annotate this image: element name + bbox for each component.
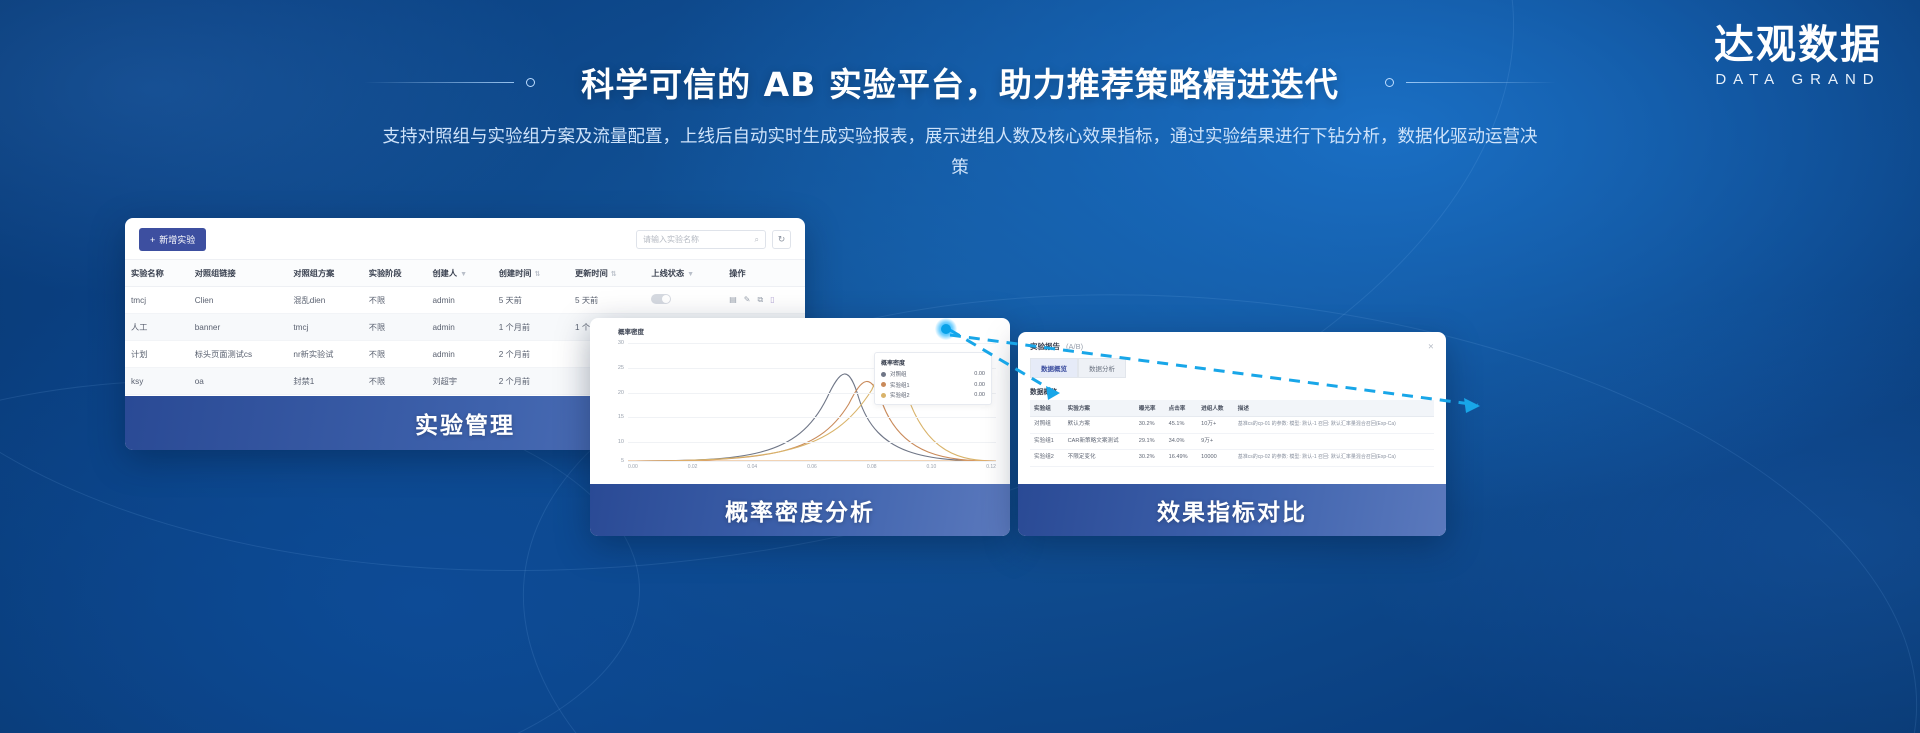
title-rule-right [1406,82,1556,83]
density-chart: 302520 15105 0.000.020.040.06 [600,338,1000,478]
online-toggle[interactable] [651,294,671,304]
cell-users: 10万+ [1197,417,1234,434]
title-dot-left-icon [526,78,535,87]
table-row[interactable]: tmcj Clien 混乱dien 不限 admin 5 天前 5 天前 ▤ ✎ [125,287,805,314]
cell-creator: admin [426,287,492,314]
cell-created: 5 天前 [493,287,569,314]
search-icon: ⌕ [755,235,759,245]
copy-icon[interactable]: ⧉ [758,295,764,305]
cell-created: 2 个月前 [493,368,569,395]
cell-link: 标头页面测试cs [189,341,288,368]
col-exposure: 曝光率 [1135,400,1165,417]
density-x-axis: 0.000.020.040.06 0.080.100.12 [628,464,996,478]
col-updated-label: 更新时间 [575,269,608,278]
cell-stage: 不限 [363,368,427,395]
col-plan[interactable]: 对照组方案 [287,260,362,287]
sort-icon-2[interactable]: ⇅ [611,271,617,278]
report-title: 实验报告 [1030,341,1060,352]
metric-table-header-row: 实验组 实验方案 曝光率 点击率 进组人数 描述 [1030,400,1434,417]
cell-plan: CAR新策略文案测试 [1064,433,1135,450]
density-legend: 概率密度 对照组 0.00 实验组1 0.00 实验组2 0.00 [874,352,992,405]
table-row[interactable]: 实验组2 不限定变化 30.2% 16.49% 10000 基准cs的cp-02… [1030,450,1434,467]
search-placeholder: 请输入实验名称 [643,234,699,245]
cell-updated: 5 天前 [569,287,645,314]
legend-label: 对照组 [890,370,970,378]
col-online-label: 上线状态 [651,269,684,278]
cell-link: Clien [189,287,288,314]
legend-swatch-icon [881,393,886,398]
cell-desc [1234,433,1434,450]
edit-icon[interactable]: ✎ [744,295,751,305]
col-actions: 操作 [723,260,805,287]
cell-name: tmcj [125,287,189,314]
cell-name: ksy [125,368,189,395]
legend-label: 实验组1 [890,381,970,389]
brand-logo: 达观数据 DATA GRAND [1714,24,1882,88]
caption-density-analysis: 概率密度分析 [590,484,1010,536]
refresh-button[interactable]: ↻ [772,230,791,249]
cell-online [645,287,723,314]
col-users: 进组人数 [1197,400,1234,417]
legend-item: 对照组 0.00 [881,370,985,378]
col-created-label: 创建时间 [499,269,532,278]
caption-metric-comparison: 效果指标对比 [1018,484,1446,536]
cell-link: banner [189,314,288,341]
hotspot-marker [935,318,957,340]
metric-table: 实验组 实验方案 曝光率 点击率 进组人数 描述 对照组 默认方案 30.2% … [1030,400,1434,467]
col-group: 实验组 [1030,400,1064,417]
col-creator[interactable]: 创建人▼ [426,260,492,287]
cell-ctr: 45.1% [1165,417,1198,434]
cell-name: 计划 [125,341,189,368]
cell-group: 实验组1 [1030,433,1064,450]
cell-plan: nr新实验试 [287,341,362,368]
cell-link: oa [189,368,288,395]
refresh-icon: ↻ [778,234,786,245]
title-rule-left [364,82,514,83]
tab-overview[interactable]: 数据概览 [1030,358,1078,378]
page-title: 科学可信的 AB 实验平台，助力推荐策略精进迭代 [547,58,1373,106]
delete-icon[interactable]: ▯ [770,295,774,305]
metric-table-body: 对照组 默认方案 30.2% 45.1% 10万+ 基准cs的cp-01 的参数… [1030,417,1434,467]
legend-swatch-icon [881,382,886,387]
col-stage[interactable]: 实验阶段 [363,260,427,287]
title-dot-right-icon [1385,78,1394,87]
cell-users: 9万+ [1197,433,1234,450]
cell-stage: 不限 [363,314,427,341]
filter-icon-2[interactable]: ▼ [687,271,694,278]
legend-title: 概率密度 [881,358,985,367]
col-updated[interactable]: 更新时间⇅ [569,260,645,287]
sort-icon[interactable]: ⇅ [534,271,540,278]
header: 科学可信的 AB 实验平台，助力推荐策略精进迭代 支持对照组与实验组方案及流量配… [0,58,1920,183]
legend-value: 0.00 [974,382,985,388]
cell-ctr: 16.49% [1165,450,1198,467]
new-experiment-label: 新增实验 [159,233,195,246]
cell-desc: 基准cs的cp-02 的参数: 模型: 默认-1 召回: 默认汇率量混合召回(E… [1234,450,1434,467]
close-icon[interactable]: ✕ [1428,342,1434,351]
cell-created: 2 个月前 [493,341,569,368]
col-name[interactable]: 实验名称 [125,260,189,287]
filter-icon[interactable]: ▼ [460,271,467,278]
cell-name: 人工 [125,314,189,341]
experiment-toolbar: + 新增实验 请输入实验名称 ⌕ ↻ [125,218,805,259]
legend-item: 实验组1 0.00 [881,381,985,389]
cell-creator: admin [426,341,492,368]
cell-exposure: 30.2% [1135,450,1165,467]
cell-plan: 不限定变化 [1064,450,1135,467]
cell-exposure: 30.2% [1135,417,1165,434]
new-experiment-button[interactable]: + 新增实验 [139,228,206,251]
metric-table-head: 实验组 实验方案 曝光率 点击率 进组人数 描述 [1030,400,1434,417]
cell-plan: 默认方案 [1064,417,1135,434]
panel-density-analysis: 概率密度 302520 15105 [590,318,1010,536]
col-creator-label: 创建人 [432,269,457,278]
report-header: 实验报告 (A/B) ✕ [1018,332,1446,358]
cell-created: 1 个月前 [493,314,569,341]
report-subtitle: (A/B) [1066,342,1083,351]
cell-group: 对照组 [1030,417,1064,434]
col-plan: 实验方案 [1064,400,1135,417]
section-title: 数据概览 [1018,378,1446,400]
cell-plan: 混乱dien [287,287,362,314]
cell-exposure: 29.1% [1135,433,1165,450]
cell-plan: 封禁1 [287,368,362,395]
brand-logo-cn: 达观数据 [1714,24,1882,66]
plus-icon: + [150,235,155,245]
legend-item: 实验组2 0.00 [881,391,985,399]
cell-ctr: 34.0% [1165,433,1198,450]
col-created[interactable]: 创建时间⇅ [493,260,569,287]
report-tabs: 数据概览 数据分析 [1018,358,1446,378]
cell-creator: 刘超宇 [426,368,492,395]
toolbar-right: 请输入实验名称 ⌕ ↻ [636,230,791,249]
col-ctr: 点击率 [1165,400,1198,417]
cell-actions: ▤ ✎ ⧉ ▯ [723,287,805,314]
legend-value: 0.00 [974,392,985,398]
cell-users: 10000 [1197,450,1234,467]
cell-plan: tmcj [287,314,362,341]
cell-stage: 不限 [363,341,427,368]
experiment-table-header-row: 实验名称 对照组链接 对照组方案 实验阶段 创建人▼ 创建时间⇅ 更新时间⇅ [125,260,805,287]
panel-metric-comparison: 实验报告 (A/B) ✕ 数据概览 数据分析 数据概览 实验组 实验方案 曝光率… [1018,332,1446,536]
title-row: 科学可信的 AB 实验平台，助力推荐策略精进迭代 [364,58,1556,106]
legend-value: 0.00 [974,371,985,377]
table-row[interactable]: 实验组1 CAR新策略文案测试 29.1% 34.0% 9万+ [1030,433,1434,450]
legend-swatch-icon [881,372,886,377]
view-icon[interactable]: ▤ [729,295,737,305]
cell-creator: admin [426,314,492,341]
brand-logo-en: DATA GRAND [1714,71,1882,88]
cell-desc: 基准cs的cp-01 的参数: 模型: 默认-1 召回: 默认汇率量混合召回(E… [1234,417,1434,434]
col-online[interactable]: 上线状态▼ [645,260,723,287]
cell-group: 实验组2 [1030,450,1064,467]
experiment-table-head: 实验名称 对照组链接 对照组方案 实验阶段 创建人▼ 创建时间⇅ 更新时间⇅ [125,260,805,287]
table-row[interactable]: 对照组 默认方案 30.2% 45.1% 10万+ 基准cs的cp-01 的参数… [1030,417,1434,434]
tab-analysis[interactable]: 数据分析 [1078,358,1126,378]
density-y-axis: 302520 15105 [600,338,626,462]
col-desc: 描述 [1234,400,1434,417]
col-link[interactable]: 对照组链接 [189,260,288,287]
legend-label: 实验组2 [890,391,970,399]
page-subtitle: 支持对照组与实验组方案及流量配置，上线后自动实时生成实验报表，展示进组人数及核心… [375,122,1545,183]
cell-stage: 不限 [363,287,427,314]
search-input[interactable]: 请输入实验名称 ⌕ [636,230,766,249]
